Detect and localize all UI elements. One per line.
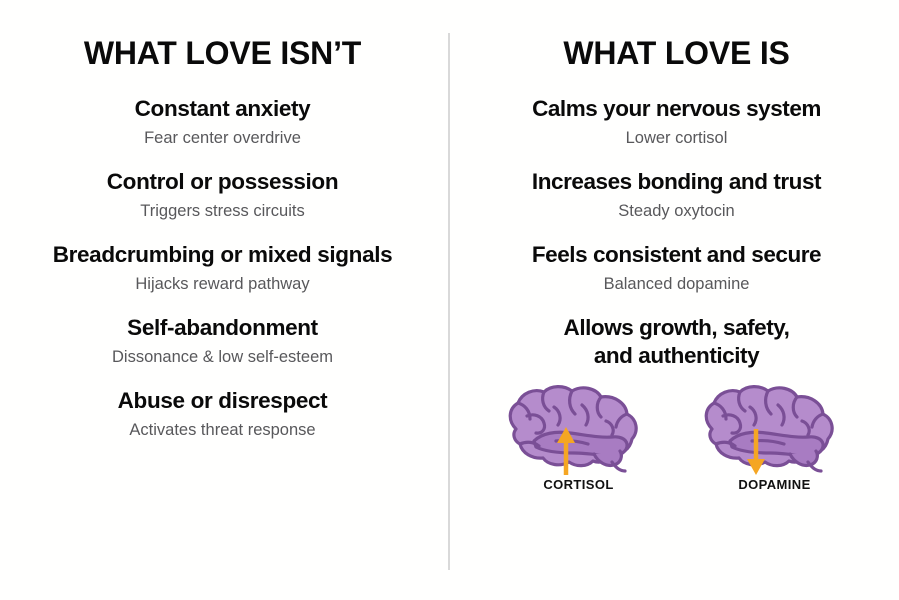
item-subtitle: Fear center overdrive (6, 128, 439, 149)
item-title: Self-abandonment (6, 314, 439, 341)
item-title: Breadcrumbing or mixed signals (6, 241, 439, 268)
item-title: Increases bonding and trust (461, 168, 892, 195)
column-what-love-isnt: WHAT LOVE ISN’T Constant anxiety Fear ce… (0, 0, 449, 600)
infographic-root: WHAT LOVE ISN’T Constant anxiety Fear ce… (0, 0, 899, 600)
brain-unit-dopamine: DOPAMINE (690, 383, 860, 492)
list-item: Constant anxiety Fear center overdrive (6, 95, 439, 148)
list-item: Calms your nervous system Lower cortisol (461, 95, 892, 148)
item-subtitle: Dissonance & low self-esteem (6, 347, 439, 368)
item-subtitle: Hijacks reward pathway (6, 274, 439, 295)
item-title: Control or possession (6, 168, 439, 195)
item-subtitle: Lower cortisol (461, 128, 892, 149)
brain-label-dopamine: DOPAMINE (690, 477, 860, 492)
brain-icon (494, 383, 664, 475)
column-what-love-is: WHAT LOVE IS Calms your nervous system L… (449, 0, 898, 600)
list-item: Increases bonding and trust Steady oxyto… (461, 168, 892, 221)
list-item: Control or possession Triggers stress ci… (6, 168, 439, 221)
brain-illustration-group: CORTISOL (461, 383, 892, 492)
right-items-list: Calms your nervous system Lower cortisol… (461, 95, 892, 492)
list-item-final: Allows growth, safety, and authenticity (461, 314, 892, 369)
list-item: Self-abandonment Dissonance & low self-e… (6, 314, 439, 367)
item-subtitle: Balanced dopamine (461, 274, 892, 295)
item-subtitle: Steady oxytocin (461, 201, 892, 222)
brain-label-cortisol: CORTISOL (494, 477, 664, 492)
brain-unit-cortisol: CORTISOL (494, 383, 664, 492)
list-item: Abuse or disrespect Activates threat res… (6, 387, 439, 440)
item-title: Constant anxiety (6, 95, 439, 122)
item-title: Feels consistent and secure (461, 241, 892, 268)
item-subtitle: Activates threat response (6, 420, 439, 441)
left-items-list: Constant anxiety Fear center overdrive C… (6, 95, 439, 440)
item-title-line1: Allows growth, safety, (461, 314, 892, 341)
brain-icon (690, 383, 860, 475)
item-subtitle: Triggers stress circuits (6, 201, 439, 222)
list-item: Feels consistent and secure Balanced dop… (461, 241, 892, 294)
item-title: Calms your nervous system (461, 95, 892, 122)
right-column-heading: WHAT LOVE IS (461, 0, 892, 71)
list-item: Breadcrumbing or mixed signals Hijacks r… (6, 241, 439, 294)
item-title-line2: and authenticity (461, 342, 892, 369)
left-column-heading: WHAT LOVE ISN’T (6, 0, 439, 71)
item-title: Abuse or disrespect (6, 387, 439, 414)
